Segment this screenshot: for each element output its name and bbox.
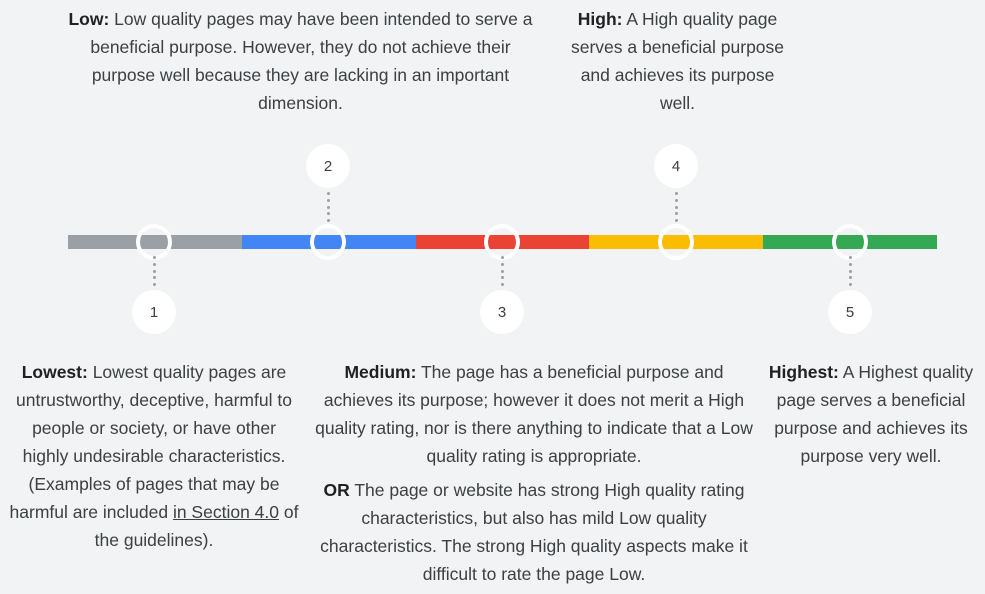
connector-dot xyxy=(501,276,504,279)
scale-marker-number-bubble[interactable]: 2 xyxy=(306,144,350,188)
connector-dot xyxy=(327,199,330,202)
bottom-descriptions-row: Lowest: Lowest quality pages are untrust… xyxy=(0,352,985,594)
description-low-text: Low quality pages may have been intended… xyxy=(90,9,532,113)
description-low: Low: Low quality pages may have been int… xyxy=(68,5,533,117)
connector-dot xyxy=(849,276,852,279)
scale-marker-number-bubble[interactable]: 3 xyxy=(480,290,524,334)
scale-marker-ring-icon xyxy=(310,224,346,260)
connector-dot xyxy=(675,212,678,215)
connector-dot xyxy=(327,192,330,195)
connector-dot xyxy=(153,276,156,279)
description-low-label: Low: xyxy=(68,9,109,29)
connector-dot xyxy=(327,212,330,215)
description-high-label: High: xyxy=(578,9,623,29)
connector-dot xyxy=(327,219,330,222)
scale-marker-connector-dots xyxy=(327,192,330,222)
connector-dot xyxy=(501,283,504,286)
scale-marker-ring-icon xyxy=(658,224,694,260)
description-medium-text-2: The page or website has strong High qual… xyxy=(320,480,748,584)
description-highest: Highest: A Highest quality page serves a… xyxy=(766,358,976,476)
connector-dot xyxy=(501,270,504,273)
connector-dot xyxy=(849,270,852,273)
description-medium-paragraph-1: Medium: The page has a beneficial purpos… xyxy=(312,358,756,470)
description-highest-paragraph: Highest: A Highest quality page serves a… xyxy=(766,358,976,470)
scale-marker-number-bubble[interactable]: 1 xyxy=(132,290,176,334)
connector-dot xyxy=(153,270,156,273)
description-lowest-text-before-link: Lowest quality pages are untrustworthy, … xyxy=(10,362,292,522)
description-medium-paragraph-2: OR The page or website has strong High q… xyxy=(312,476,756,588)
connector-dot xyxy=(675,199,678,202)
description-highest-label: Highest: xyxy=(769,362,839,382)
scale-marker-connector-dots xyxy=(153,256,156,286)
connector-dot xyxy=(327,206,330,209)
connector-dot xyxy=(501,256,504,259)
scale-marker-number-bubble[interactable]: 4 xyxy=(654,144,698,188)
connector-dot xyxy=(849,256,852,259)
scale-marker-ring-icon xyxy=(484,224,520,260)
connector-dot xyxy=(675,206,678,209)
description-medium-or-label: OR xyxy=(324,480,350,500)
description-medium-label: Medium: xyxy=(344,362,416,382)
scale-marker-connector-dots xyxy=(849,256,852,286)
description-medium: Medium: The page has a beneficial purpos… xyxy=(312,358,756,594)
connector-dot xyxy=(153,283,156,286)
quality-scale: 12345 xyxy=(0,130,985,350)
description-lowest-paragraph: Lowest: Lowest quality pages are untrust… xyxy=(8,358,300,554)
section-4-0-link[interactable]: in Section 4.0 xyxy=(173,502,279,522)
connector-dot xyxy=(675,219,678,222)
description-lowest: Lowest: Lowest quality pages are untrust… xyxy=(8,358,300,560)
description-lowest-label: Lowest: xyxy=(22,362,88,382)
description-high: High: A High quality page serves a benef… xyxy=(570,5,785,117)
connector-dot xyxy=(501,263,504,266)
connector-dot xyxy=(849,283,852,286)
connector-dot xyxy=(153,263,156,266)
scale-marker-number-bubble[interactable]: 5 xyxy=(828,290,872,334)
scale-marker-ring-icon xyxy=(136,224,172,260)
top-descriptions-row: Low: Low quality pages may have been int… xyxy=(0,0,985,130)
connector-dot xyxy=(153,256,156,259)
scale-marker-ring-icon xyxy=(832,224,868,260)
scale-marker-connector-dots xyxy=(501,256,504,286)
scale-marker-connector-dots xyxy=(675,192,678,222)
connector-dot xyxy=(849,263,852,266)
connector-dot xyxy=(675,192,678,195)
